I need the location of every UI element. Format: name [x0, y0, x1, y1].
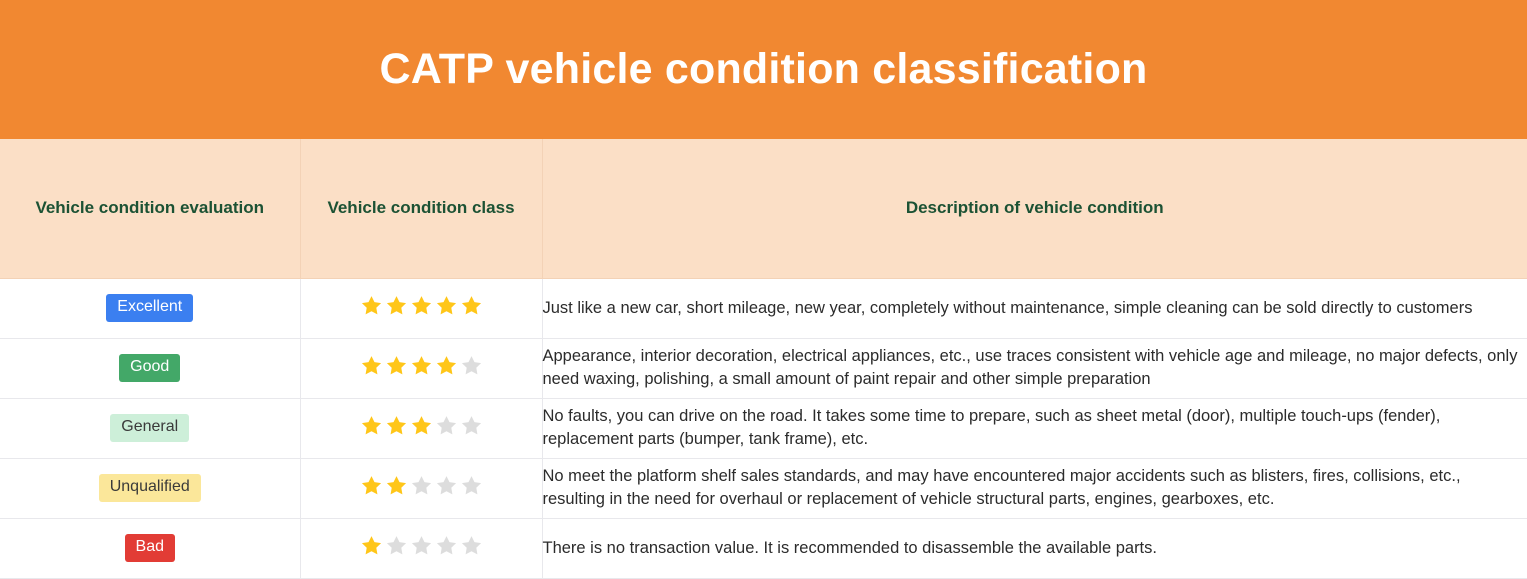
star-filled-icon [385, 414, 408, 437]
star-empty-icon [435, 534, 458, 557]
star-rating [360, 414, 483, 437]
table-header: Vehicle condition evaluation Vehicle con… [0, 139, 1527, 278]
column-header-description: Description of vehicle condition [542, 139, 1527, 278]
table-row: ExcellentJust like a new car, short mile… [0, 278, 1527, 338]
evaluation-cell: Bad [0, 518, 300, 578]
table-row: UnqualifiedNo meet the platform shelf sa… [0, 458, 1527, 518]
star-empty-icon [460, 414, 483, 437]
description-cell: Appearance, interior decoration, electri… [542, 338, 1527, 398]
star-rating [360, 354, 483, 377]
star-filled-icon [410, 354, 433, 377]
star-empty-icon [385, 534, 408, 557]
table-header-row: Vehicle condition evaluation Vehicle con… [0, 139, 1527, 278]
star-filled-icon [385, 354, 408, 377]
column-header-evaluation: Vehicle condition evaluation [0, 139, 300, 278]
star-filled-icon [435, 354, 458, 377]
table-row: GeneralNo faults, you can drive on the r… [0, 398, 1527, 458]
star-filled-icon [360, 534, 383, 557]
table-body: ExcellentJust like a new car, short mile… [0, 278, 1527, 578]
vehicle-condition-classification-page: CATP vehicle condition classification Ve… [0, 0, 1527, 579]
star-empty-icon [460, 354, 483, 377]
description-cell: No meet the platform shelf sales standar… [542, 458, 1527, 518]
star-empty-icon [410, 534, 433, 557]
star-empty-icon [435, 414, 458, 437]
evaluation-cell: Good [0, 338, 300, 398]
star-empty-icon [410, 474, 433, 497]
status-badge-general[interactable]: General [110, 414, 189, 441]
star-filled-icon [385, 294, 408, 317]
status-badge-bad[interactable]: Bad [125, 534, 175, 561]
description-cell: Just like a new car, short mileage, new … [542, 278, 1527, 338]
vehicle-condition-table: Vehicle condition evaluation Vehicle con… [0, 139, 1527, 579]
star-filled-icon [360, 294, 383, 317]
status-badge-excellent[interactable]: Excellent [106, 294, 193, 321]
evaluation-cell: Unqualified [0, 458, 300, 518]
star-empty-icon [460, 534, 483, 557]
star-empty-icon [435, 474, 458, 497]
star-filled-icon [360, 474, 383, 497]
description-cell: There is no transaction value. It is rec… [542, 518, 1527, 578]
column-header-class: Vehicle condition class [300, 139, 542, 278]
star-filled-icon [360, 354, 383, 377]
rating-cell [300, 458, 542, 518]
status-badge-good[interactable]: Good [119, 354, 180, 381]
star-filled-icon [410, 294, 433, 317]
rating-cell [300, 338, 542, 398]
star-filled-icon [435, 294, 458, 317]
star-filled-icon [360, 414, 383, 437]
status-badge-unqualified[interactable]: Unqualified [99, 474, 201, 501]
rating-cell [300, 278, 542, 338]
star-rating [360, 474, 483, 497]
star-filled-icon [385, 474, 408, 497]
star-filled-icon [410, 414, 433, 437]
star-empty-icon [460, 474, 483, 497]
star-rating [360, 294, 483, 317]
description-cell: No faults, you can drive on the road. It… [542, 398, 1527, 458]
evaluation-cell: Excellent [0, 278, 300, 338]
star-filled-icon [460, 294, 483, 317]
table-row: BadThere is no transaction value. It is … [0, 518, 1527, 578]
evaluation-cell: General [0, 398, 300, 458]
title-banner: CATP vehicle condition classification [0, 0, 1527, 139]
page-title: CATP vehicle condition classification [379, 46, 1147, 93]
rating-cell [300, 518, 542, 578]
table-row: GoodAppearance, interior decoration, ele… [0, 338, 1527, 398]
star-rating [360, 534, 483, 557]
rating-cell [300, 398, 542, 458]
